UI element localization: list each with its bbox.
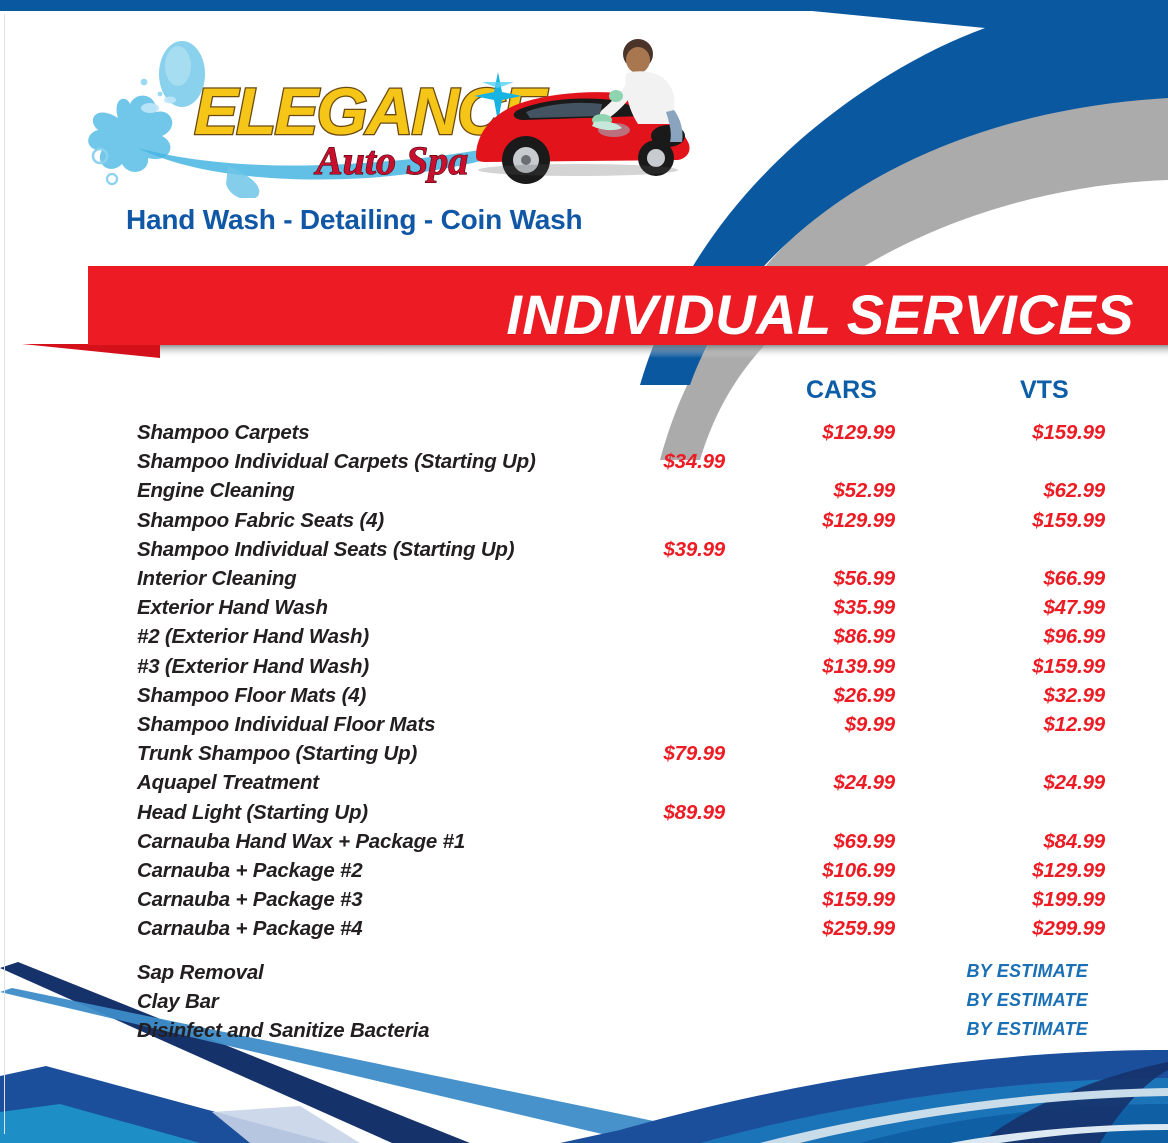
- price-vts: $62.99: [950, 479, 1105, 503]
- service-name: Head Light (Starting Up): [137, 801, 368, 825]
- price-starting: $79.99: [560, 742, 725, 766]
- top-right-gray-swoosh: [660, 0, 1168, 460]
- column-header-vts: VTS: [1020, 376, 1069, 405]
- bottom-right-wave-blue: [700, 1078, 1168, 1143]
- price-starting: $34.99: [560, 450, 725, 474]
- top-blue-strip: [0, 0, 1168, 11]
- price-vts: $159.99: [950, 421, 1105, 445]
- service-name: Clay Bar: [137, 990, 219, 1014]
- bottom-right-wave-navy: [560, 1050, 1168, 1143]
- price-cars: $9.99: [740, 713, 895, 737]
- table-row: Exterior Hand Wash$35.99$47.99: [0, 596, 1168, 625]
- service-name: Sap Removal: [137, 961, 264, 985]
- price-vts: $66.99: [950, 567, 1105, 591]
- price-cars: $26.99: [740, 684, 895, 708]
- price-cars: $259.99: [740, 917, 895, 941]
- service-name: Shampoo Individual Floor Mats: [137, 713, 435, 737]
- service-name: Carnauba + Package #2: [137, 859, 362, 883]
- price-vts: $129.99: [950, 859, 1105, 883]
- service-name: Shampoo Floor Mats (4): [137, 684, 366, 708]
- table-row: Shampoo Floor Mats (4)$26.99$32.99: [0, 684, 1168, 713]
- price-cars: $129.99: [740, 509, 895, 533]
- table-row: Carnauba + Package #3$159.99$199.99: [0, 888, 1168, 917]
- price-starting: $89.99: [560, 801, 725, 825]
- estimate-row: Sap RemovalBY ESTIMATE: [0, 961, 1168, 990]
- service-name: Shampoo Individual Seats (Starting Up): [137, 538, 514, 562]
- service-name: Interior Cleaning: [137, 567, 296, 591]
- price-vts: $32.99: [950, 684, 1105, 708]
- price-vts: $159.99: [950, 655, 1105, 679]
- bottom-left-lightblue-ribbon: [0, 1104, 200, 1143]
- table-row: Carnauba + Package #2$106.99$129.99: [0, 859, 1168, 888]
- price-cars: $24.99: [740, 771, 895, 795]
- price-cars: $86.99: [740, 625, 895, 649]
- service-name: Carnauba + Package #3: [137, 888, 362, 912]
- estimate-badge: BY ESTIMATE: [905, 1019, 1088, 1040]
- estimate-badge: BY ESTIMATE: [905, 961, 1088, 982]
- table-row: Carnauba + Package #4$259.99$299.99: [0, 917, 1168, 946]
- table-row: Shampoo Individual Floor Mats$9.99$12.99: [0, 713, 1168, 742]
- table-row: Shampoo Carpets$129.99$159.99: [0, 421, 1168, 450]
- price-vts: $47.99: [950, 596, 1105, 620]
- price-cars: $159.99: [740, 888, 895, 912]
- service-name: Carnauba + Package #4: [137, 917, 362, 941]
- table-row: Shampoo Fabric Seats (4)$129.99$159.99: [0, 509, 1168, 538]
- table-row: Interior Cleaning$56.99$66.99: [0, 567, 1168, 596]
- service-name: Engine Cleaning: [137, 479, 295, 503]
- bottom-right-wave-darknavy: [980, 1062, 1168, 1143]
- price-vts: $84.99: [950, 830, 1105, 854]
- price-vts: $12.99: [950, 713, 1105, 737]
- price-cars: $52.99: [740, 479, 895, 503]
- estimate-row: Disinfect and Sanitize BacteriaBY ESTIMA…: [0, 1019, 1168, 1048]
- table-row: Head Light (Starting Up)$89.99: [0, 801, 1168, 830]
- table-row: Aquapel Treatment$24.99$24.99: [0, 771, 1168, 800]
- price-cars: $56.99: [740, 567, 895, 591]
- table-row: #2 (Exterior Hand Wash)$86.99$96.99: [0, 625, 1168, 654]
- service-name: Shampoo Carpets: [137, 421, 309, 445]
- banner-fold-tail: [22, 344, 160, 358]
- service-name: Disinfect and Sanitize Bacteria: [137, 1019, 429, 1043]
- price-vts: $199.99: [950, 888, 1105, 912]
- service-name: Trunk Shampoo (Starting Up): [137, 742, 417, 766]
- price-cars: $35.99: [740, 596, 895, 620]
- bottom-right-wave-deep: [860, 1104, 1168, 1143]
- services-price-flyer: ELEGANCE Auto Spa: [0, 0, 1168, 1143]
- tagline: Hand Wash - Detailing - Coin Wash: [126, 204, 582, 236]
- price-vts: $24.99: [950, 771, 1105, 795]
- table-row: Trunk Shampoo (Starting Up)$79.99: [0, 742, 1168, 771]
- brand-logo: ELEGANCE Auto Spa: [78, 38, 698, 198]
- service-name: #3 (Exterior Hand Wash): [137, 655, 369, 679]
- estimate-row: Clay BarBY ESTIMATE: [0, 990, 1168, 1019]
- table-row: #3 (Exterior Hand Wash)$139.99$159.99: [0, 655, 1168, 684]
- banner-title: INDIVIDUAL SERVICES: [506, 282, 1134, 347]
- price-cars: $106.99: [740, 859, 895, 883]
- price-starting: $39.99: [560, 538, 725, 562]
- price-vts: $96.99: [950, 625, 1105, 649]
- price-cars: $139.99: [740, 655, 895, 679]
- bottom-right-wave-highlight: [760, 1088, 1168, 1143]
- price-vts: $159.99: [950, 509, 1105, 533]
- price-cars: $129.99: [740, 421, 895, 445]
- bottom-right-wave-highlight2: [950, 1124, 1168, 1143]
- service-name: Carnauba Hand Wax + Package #1: [137, 830, 465, 854]
- service-name: Shampoo Individual Carpets (Starting Up): [137, 450, 536, 474]
- estimate-badge: BY ESTIMATE: [905, 990, 1088, 1011]
- section-banner: INDIVIDUAL SERVICES: [0, 262, 1168, 362]
- price-vts: $299.99: [950, 917, 1105, 941]
- column-header-cars: CARS: [806, 376, 877, 405]
- table-row: Engine Cleaning$52.99$62.99: [0, 479, 1168, 508]
- logo-script: Auto Spa: [313, 138, 468, 183]
- service-name: Exterior Hand Wash: [137, 596, 328, 620]
- bottom-left-deepblue-ribbon: [0, 1066, 330, 1143]
- service-name: Shampoo Fabric Seats (4): [137, 509, 384, 533]
- table-row: Shampoo Individual Seats (Starting Up)$3…: [0, 538, 1168, 567]
- service-name: #2 (Exterior Hand Wash): [137, 625, 369, 649]
- price-cars: $69.99: [740, 830, 895, 854]
- table-row: Shampoo Individual Carpets (Starting Up)…: [0, 450, 1168, 479]
- bottom-left-pale-accent: [212, 1106, 360, 1143]
- table-row: Carnauba Hand Wax + Package #1$69.99$84.…: [0, 830, 1168, 859]
- service-name: Aquapel Treatment: [137, 771, 319, 795]
